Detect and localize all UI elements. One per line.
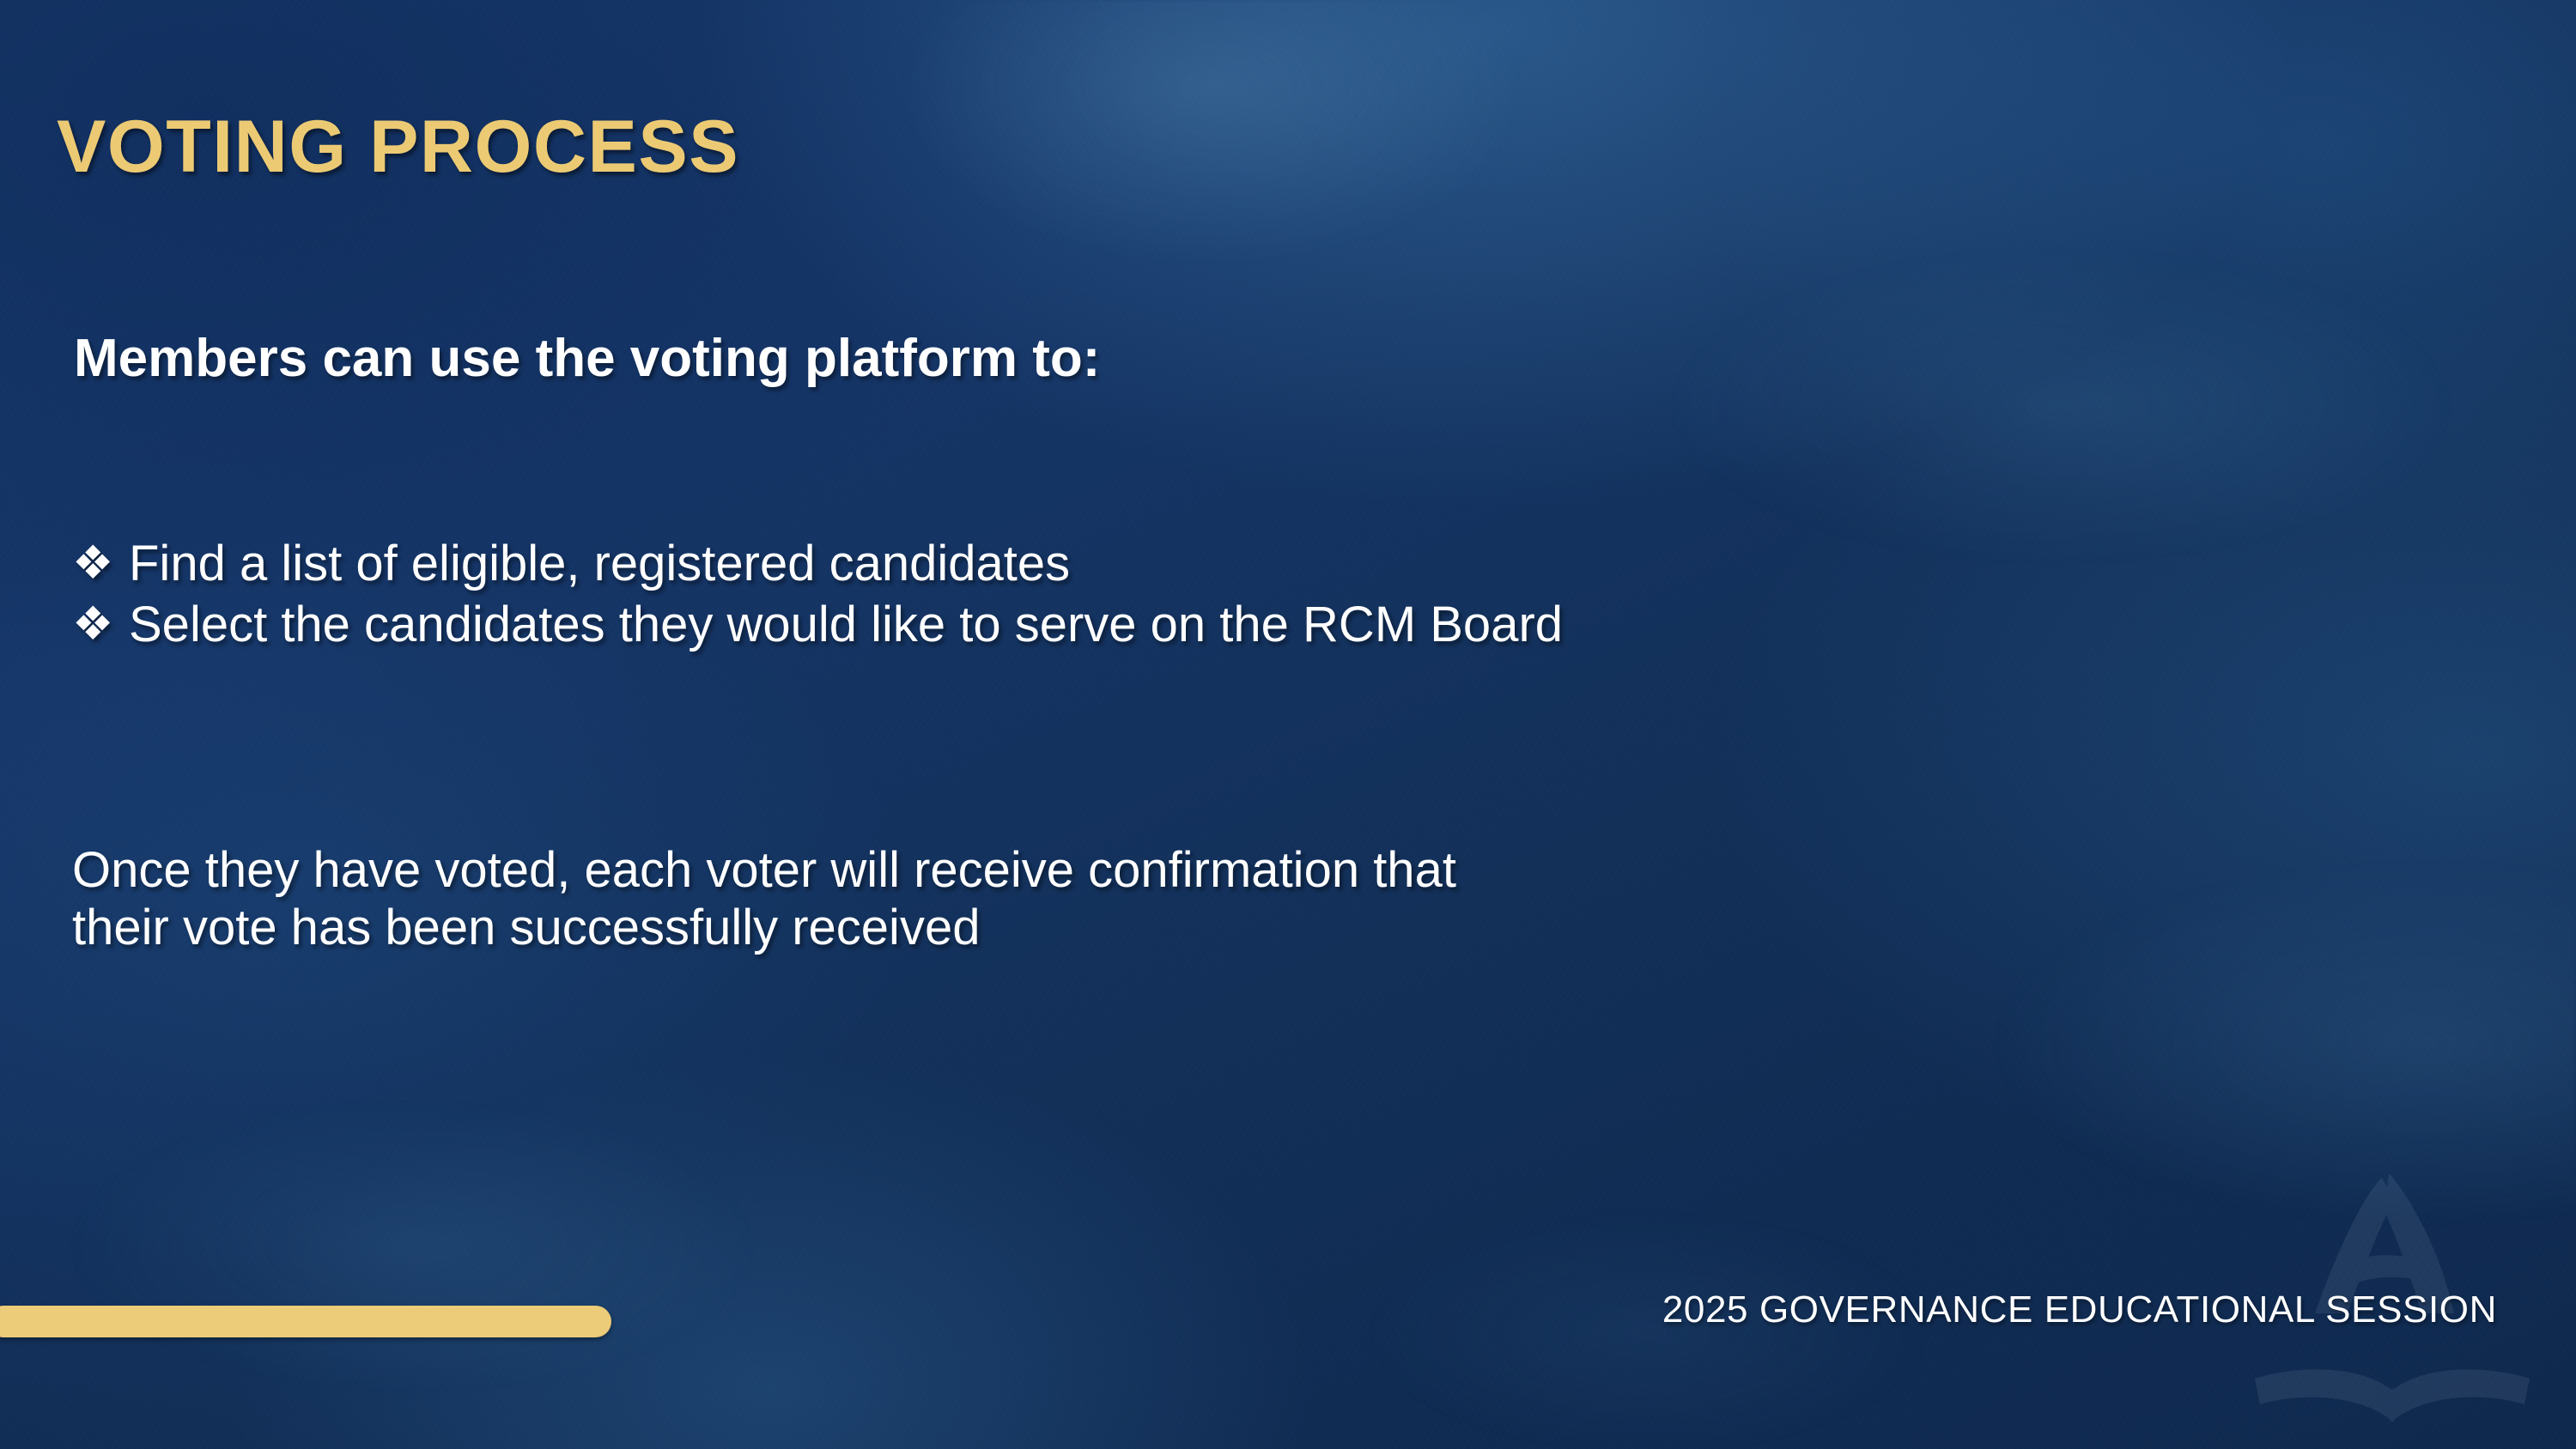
bullet-list-item-text: Find a list of eligible, registered cand… [129,537,2528,592]
slide-title: VOTING PROCESS [57,105,739,190]
closing-paragraph: Once they have voted, each voter will re… [72,841,2442,957]
bullet-list-item: ❖ Select the candidates they would like … [72,597,2528,653]
closing-paragraph-line: Once they have voted, each voter will re… [72,841,2442,899]
presentation-slide: VOTING PROCESS Members can use the votin… [0,0,2576,1449]
bullet-list-item-text: Select the candidates they would like to… [129,597,2528,653]
footer-session-label: 2025 GOVERNANCE EDUCATIONAL SESSION [1662,1288,2497,1331]
slide-lead-statement: Members can use the voting platform to: [74,328,1100,389]
gold-accent-bar [0,1306,611,1337]
slide-background-vignette [0,0,2576,1449]
closing-paragraph-line: their vote has been successfully receive… [72,899,2442,956]
bullet-list: ❖ Find a list of eligible, registered ca… [72,537,2528,658]
bullet-list-item: ❖ Find a list of eligible, registered ca… [72,537,2528,592]
diamond-bullet-icon: ❖ [72,597,129,652]
diamond-bullet-icon: ❖ [72,537,129,591]
